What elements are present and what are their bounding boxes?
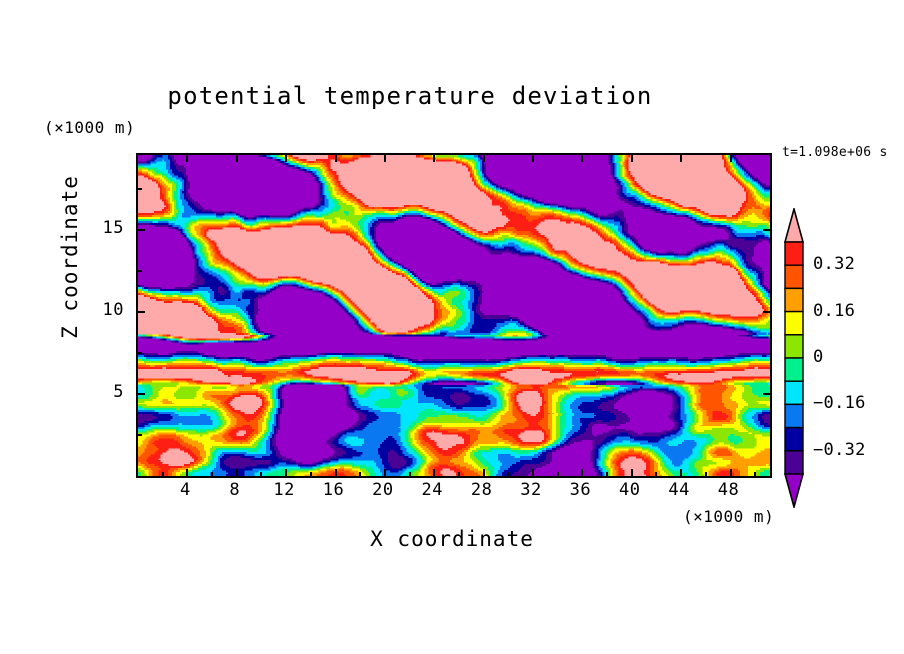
x-minor-tick	[359, 472, 361, 476]
x-tick	[680, 469, 682, 476]
x-tick-top	[532, 155, 534, 162]
y-tick	[138, 229, 145, 231]
colorbar-label: 0	[813, 347, 824, 367]
x-tick-label: 48	[709, 480, 749, 500]
x-minor-tick	[606, 472, 608, 476]
page-title: potential temperature deviation	[0, 82, 820, 110]
x-tick	[581, 469, 583, 476]
x-tick	[433, 469, 435, 476]
x-tick-top	[384, 155, 386, 162]
y-axis-unit-label: (×1000 m)	[44, 118, 135, 137]
x-tick-top	[433, 155, 435, 162]
x-tick-label: 16	[314, 480, 354, 500]
timestamp-annotation: t=1.098e+06 s	[782, 145, 888, 160]
x-tick-label: 8	[215, 480, 255, 500]
x-tick-label: 44	[659, 480, 699, 500]
x-tick-label: 4	[165, 480, 205, 500]
x-tick-label: 36	[560, 480, 600, 500]
y-minor-tick	[138, 434, 142, 436]
x-tick-top	[631, 155, 633, 162]
colorbar-label: −0.16	[813, 393, 866, 413]
x-tick	[186, 469, 188, 476]
y-tick-right	[763, 229, 770, 231]
x-tick-top	[285, 155, 287, 162]
x-tick-label: 24	[412, 480, 452, 500]
y-minor-tick	[138, 188, 142, 190]
x-tick-top	[581, 155, 583, 162]
x-minor-tick	[507, 472, 509, 476]
y-minor-tick	[138, 352, 142, 354]
x-tick	[483, 469, 485, 476]
colorbar-swatches	[783, 208, 805, 508]
x-tick	[730, 469, 732, 476]
x-tick-label: 28	[462, 480, 502, 500]
x-tick-top	[186, 155, 188, 162]
x-tick-top	[680, 155, 682, 162]
y-tick-label: 10	[78, 300, 124, 320]
x-tick-label: 20	[363, 480, 403, 500]
x-minor-tick	[260, 472, 262, 476]
x-minor-tick	[754, 472, 756, 476]
contour-plot-area	[136, 153, 772, 478]
colorbar-label: 0.16	[813, 301, 855, 321]
x-tick-label: 32	[511, 480, 551, 500]
y-tick	[138, 311, 145, 313]
x-tick-top	[483, 155, 485, 162]
y-tick	[138, 393, 145, 395]
x-minor-tick	[310, 472, 312, 476]
x-tick-top	[236, 155, 238, 162]
colorbar-label: 0.32	[813, 254, 855, 274]
x-minor-tick	[409, 472, 411, 476]
y-axis-title: Z coordinate	[58, 157, 82, 357]
colorbar-label: −0.32	[813, 440, 866, 460]
x-axis-title: X coordinate	[136, 527, 768, 551]
x-minor-tick	[655, 472, 657, 476]
y-minor-tick	[138, 270, 142, 272]
x-tick-top	[730, 155, 732, 162]
x-tick-label: 40	[610, 480, 650, 500]
x-minor-tick	[211, 472, 213, 476]
x-tick	[384, 469, 386, 476]
x-axis-unit-label: (×1000 m)	[683, 507, 774, 526]
figure-canvas: potential temperature deviation (×1000 m…	[0, 0, 904, 654]
x-minor-tick	[705, 472, 707, 476]
y-tick-label: 5	[78, 382, 124, 402]
y-tick-right	[763, 311, 770, 313]
y-tick-label: 15	[78, 218, 124, 238]
x-tick	[236, 469, 238, 476]
contour-field	[138, 155, 770, 476]
x-tick	[532, 469, 534, 476]
x-tick-label: 12	[264, 480, 304, 500]
x-minor-tick	[557, 472, 559, 476]
y-tick-right	[763, 393, 770, 395]
x-tick	[631, 469, 633, 476]
x-minor-tick	[162, 472, 164, 476]
x-tick	[335, 469, 337, 476]
x-tick	[285, 469, 287, 476]
x-minor-tick	[458, 472, 460, 476]
colorbar	[783, 208, 805, 508]
x-tick-top	[335, 155, 337, 162]
